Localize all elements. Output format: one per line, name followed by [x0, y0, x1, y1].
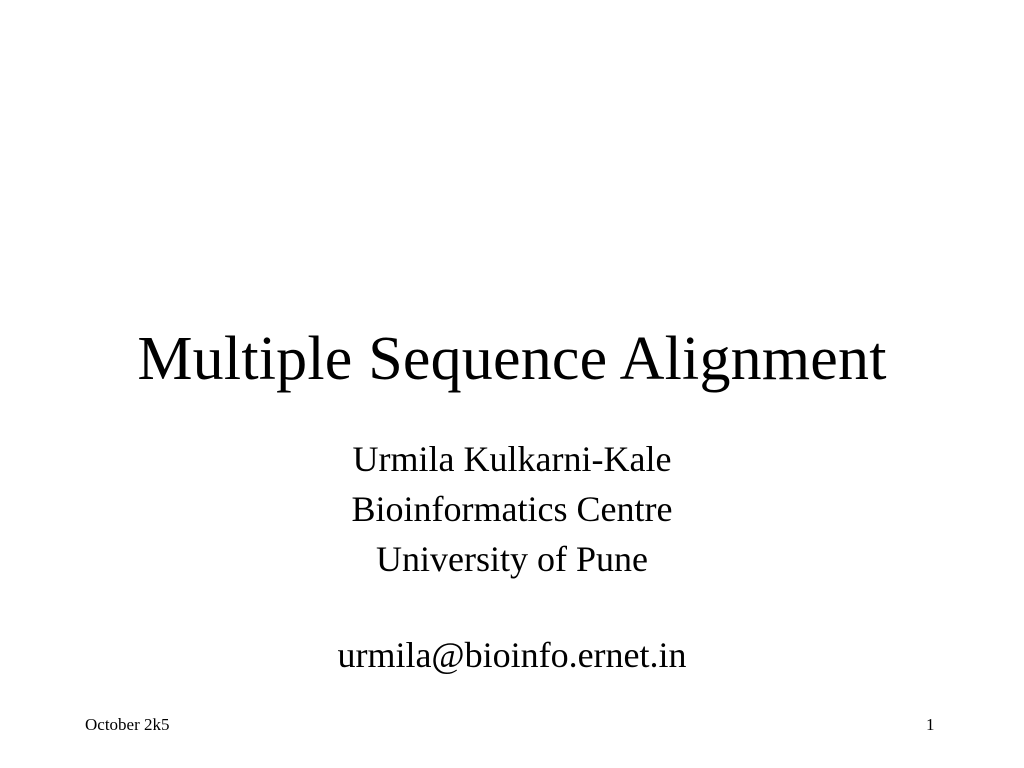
- contact-email: urmila@bioinfo.ernet.in: [0, 630, 1024, 680]
- footer-date: October 2k5: [85, 714, 170, 736]
- presentation-slide: Multiple Sequence Alignment Urmila Kulka…: [0, 0, 1024, 768]
- author-name-line: Urmila Kulkarni-Kale: [0, 434, 1024, 484]
- body-spacer: [0, 584, 1024, 630]
- slide-footer: October 2k5 1: [0, 708, 1024, 768]
- slide-body-text: Urmila Kulkarni-Kale Bioinformatics Cent…: [0, 434, 1024, 680]
- affiliation-department-line: Bioinformatics Centre: [0, 484, 1024, 534]
- affiliation-university-line: University of Pune: [0, 534, 1024, 584]
- slide-title: Multiple Sequence Alignment: [0, 325, 1024, 393]
- footer-page-number: 1: [926, 714, 935, 736]
